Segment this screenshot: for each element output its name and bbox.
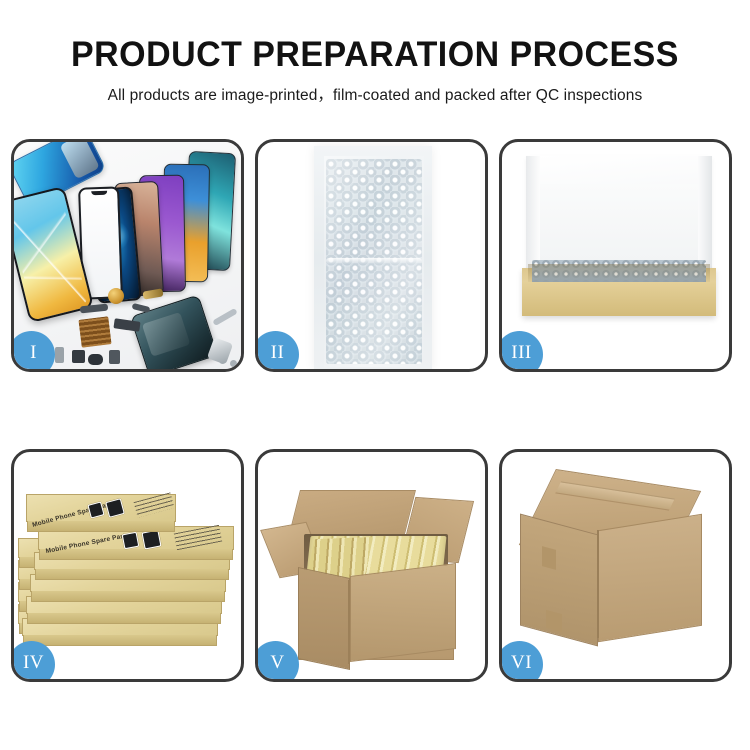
carton-vertical-edge xyxy=(348,580,350,664)
step-1-image xyxy=(14,142,241,369)
step-6-image xyxy=(502,452,729,679)
carton-handle-notch-top xyxy=(542,546,556,570)
kraft-box-front-wall xyxy=(522,282,716,316)
step-5-image xyxy=(258,452,485,679)
header: PRODUCT PREPARATION PROCESS All products… xyxy=(0,36,750,105)
box-art-phone-b xyxy=(142,530,162,550)
page-title: PRODUCT PREPARATION PROCESS xyxy=(11,36,739,74)
carton-face-left xyxy=(298,567,350,670)
bubble-wrap-sheet xyxy=(314,146,432,369)
sealed-carton-face-right xyxy=(598,514,702,642)
step-3-image xyxy=(502,142,729,369)
step-4-image: Mobile Phone Spare Parts Mobile Phone Sp… xyxy=(14,452,241,679)
sealed-carton-edge xyxy=(597,530,599,638)
product-preparation-infographic: PRODUCT PREPARATION PROCESS All products… xyxy=(0,0,750,750)
process-steps-grid: I II xyxy=(11,139,739,682)
chip-part xyxy=(72,350,85,363)
speaker-part xyxy=(88,354,103,365)
step-panel-5[interactable]: V xyxy=(255,449,488,682)
stack-box-6-labeled: Mobile Phone Spare Parts xyxy=(26,494,176,522)
box-stack: Mobile Phone Spare Parts Mobile Phone Sp… xyxy=(16,474,241,679)
taptic-motor-part xyxy=(108,288,124,304)
step-2-image xyxy=(258,142,485,369)
box-art-phone-a xyxy=(122,532,140,550)
step-panel-1[interactable]: I xyxy=(11,139,244,372)
screw-part-b xyxy=(230,360,237,367)
step-panel-2[interactable]: II xyxy=(255,139,488,372)
carton-face-right xyxy=(350,563,456,662)
sim-tray-part xyxy=(55,347,64,363)
bubble-wrap-seam xyxy=(326,258,422,264)
step-panel-6[interactable]: VI xyxy=(499,449,732,682)
page-subtitle: All products are image-printed，film-coat… xyxy=(0,83,750,105)
screw-plate-part xyxy=(78,316,111,347)
box-lid-flap-right xyxy=(698,156,712,274)
box-lid-flap-left xyxy=(526,156,540,274)
step-panel-4[interactable]: Mobile Phone Spare Parts Mobile Phone Sp… xyxy=(11,449,244,682)
step-panel-3[interactable]: III xyxy=(499,139,732,372)
camera-module-part xyxy=(109,350,120,364)
